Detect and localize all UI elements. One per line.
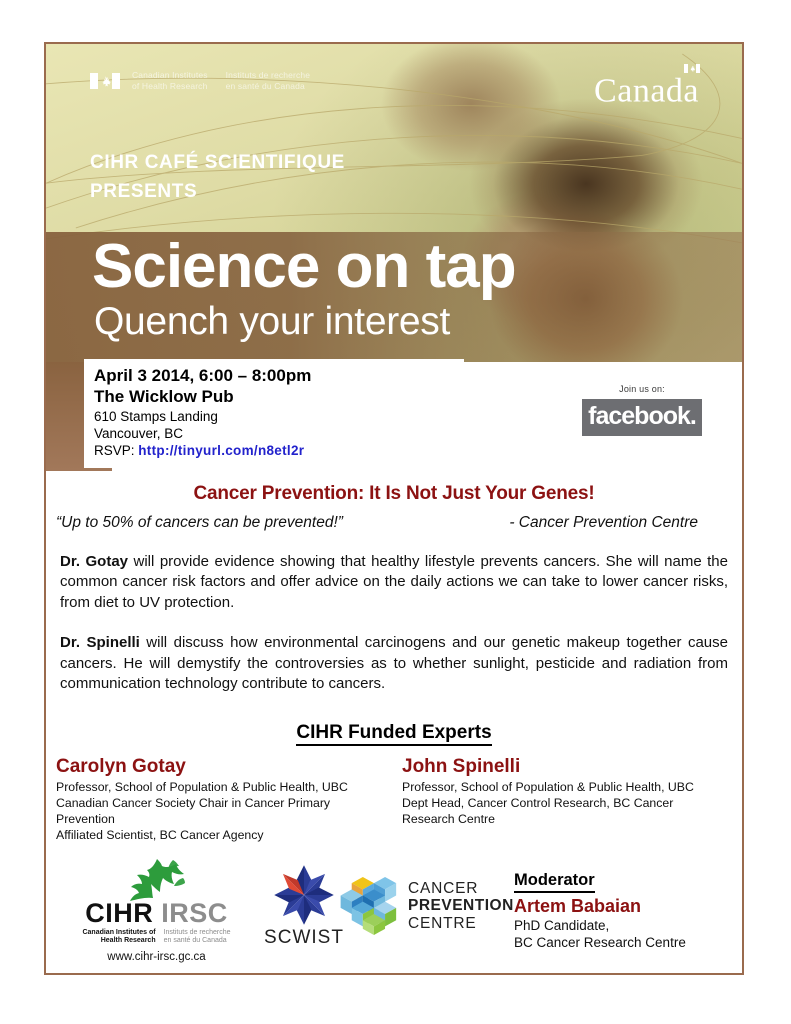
maple-leaf-icon xyxy=(121,858,193,902)
canada-wordmark: Canada xyxy=(594,62,700,108)
event-city: Vancouver, BC xyxy=(94,425,456,442)
topic-attribution: - Cancer Prevention Centre xyxy=(509,514,698,532)
moderator-line-1: PhD Candidate, xyxy=(514,917,734,934)
cihr-signature-en-line1: Canadian Institutes xyxy=(132,70,208,81)
cihr-logo-sub-en-1: Canadian Institutes of xyxy=(82,929,155,938)
cihr-logo-sub-fr-1: Instituts de recherche xyxy=(164,929,231,938)
expert-spinelli-line-3: Research Centre xyxy=(402,812,724,828)
event-address: 610 Stamps Landing xyxy=(94,408,456,425)
expert-spinelli-line-2: Dept Head, Cancer Control Research, BC C… xyxy=(402,796,724,812)
topic-headline: Cancer Prevention: It Is Not Just Your G… xyxy=(46,483,742,505)
event-details-box: April 3 2014, 6:00 – 8:00pm The Wicklow … xyxy=(84,359,464,468)
poster-body: Cancer Prevention: It Is Not Just Your G… xyxy=(46,471,742,973)
cpc-line-3: CENTRE xyxy=(408,915,514,932)
rsvp-label: RSVP: xyxy=(94,443,138,458)
paragraph-gotay: Dr. Gotay will provide evidence showing … xyxy=(60,552,728,613)
paragraph-spinelli-text: will discuss how environmental carcinoge… xyxy=(60,634,728,692)
moderator-block: Moderator Artem Babaian PhD Candidate, B… xyxy=(514,871,734,951)
expert-gotay-line-2: Canadian Cancer Society Chair in Cancer … xyxy=(56,796,386,812)
footer-logos: CIHR IRSC Canadian Institutes of Health … xyxy=(46,845,742,965)
paragraph-spinelli: Dr. Spinelli will discuss how environmen… xyxy=(60,633,728,694)
poster: Canadian Institutes of Health Research I… xyxy=(44,42,744,975)
cihr-signature-fr-line2: en santé du Canada xyxy=(226,81,311,92)
canada-wordmark-text: Canada xyxy=(594,72,699,109)
cihr-signature-fr-line1: Instituts de recherche xyxy=(226,70,311,81)
experts-section-title: CIHR Funded Experts xyxy=(46,722,742,744)
facebook-join-label: Join us on: xyxy=(582,384,702,394)
topic-quote: “Up to 50% of cancers can be prevented!” xyxy=(56,514,343,532)
cihr-wordmark-row: CIHR IRSC xyxy=(64,900,249,927)
presents-label: PRESENTS xyxy=(90,178,345,207)
cihr-logo-sub-en-2: Health Research xyxy=(82,937,155,946)
quote-row: “Up to 50% of cancers can be prevented!”… xyxy=(46,505,742,532)
cihr-logo-sub-fr-2: en santé du Canada xyxy=(164,937,231,946)
cihr-word-en: CIHR xyxy=(85,898,153,928)
cihr-word-fr: IRSC xyxy=(161,898,228,928)
cpc-wordmark: CANCER PREVENTION CENTRE xyxy=(408,880,514,932)
experts-row: Carolyn Gotay Professor, School of Popul… xyxy=(46,756,742,844)
expert-gotay-line-3: Prevention xyxy=(56,812,386,828)
cihr-signature-en-line2: of Health Research xyxy=(132,81,208,92)
expert-gotay-line-4: Affiliated Scientist, BC Cancer Agency xyxy=(56,828,386,844)
event-datetime: April 3 2014, 6:00 – 8:00pm xyxy=(94,365,456,386)
scwist-star-icon xyxy=(273,864,335,926)
expert-gotay-name: Carolyn Gotay xyxy=(56,756,386,778)
event-venue: The Wicklow Pub xyxy=(94,386,456,407)
paragraph-spinelli-lead: Dr. Spinelli xyxy=(60,634,140,651)
experts-section-title-text: CIHR Funded Experts xyxy=(296,722,491,746)
rsvp-row: RSVP: http://tinyurl.com/n8etl2r xyxy=(94,442,456,460)
cancer-prevention-centre-logo: CANCER PREVENTION CENTRE xyxy=(338,877,514,935)
moderator-title: Moderator xyxy=(514,871,595,893)
paragraph-gotay-lead: Dr. Gotay xyxy=(60,553,128,570)
cafe-scientifique-label: CIHR CAFÉ SCIENTIFIQUE xyxy=(90,149,345,178)
cihr-logo-subtext: Canadian Institutes of Health Research I… xyxy=(64,929,249,946)
expert-spinelli-name: John Spinelli xyxy=(402,756,724,778)
rsvp-link[interactable]: http://tinyurl.com/n8etl2r xyxy=(138,443,304,458)
moderator-name: Artem Babaian xyxy=(514,895,734,918)
cpc-cube-icon xyxy=(338,877,400,935)
moderator-line-2: BC Cancer Research Centre xyxy=(514,934,734,951)
paragraph-gotay-text: will provide evidence showing that healt… xyxy=(60,553,728,611)
cihr-website-url[interactable]: www.cihr-irsc.gc.ca xyxy=(64,951,249,963)
expert-spinelli: John Spinelli Professor, School of Popul… xyxy=(394,756,732,844)
expert-gotay-line-1: Professor, School of Population & Public… xyxy=(56,780,386,796)
expert-spinelli-line-1: Professor, School of Population & Public… xyxy=(402,780,724,796)
poster-title: Science on tap xyxy=(92,236,516,298)
cpc-line-2: PREVENTION xyxy=(408,897,514,914)
cihr-logo: CIHR IRSC Canadian Institutes of Health … xyxy=(64,858,249,963)
facebook-block[interactable]: Join us on: facebook. xyxy=(582,384,702,436)
cihr-signature: Canadian Institutes of Health Research I… xyxy=(90,70,310,92)
canada-flag-icon xyxy=(90,73,120,89)
presents-block: CIHR CAFÉ SCIENTIFIQUE PRESENTS xyxy=(90,149,345,206)
canada-wordmark-flag-icon xyxy=(684,46,700,55)
expert-gotay: Carolyn Gotay Professor, School of Popul… xyxy=(56,756,394,844)
poster-subtitle: Quench your interest xyxy=(94,302,450,341)
facebook-badge[interactable]: facebook. xyxy=(582,399,702,436)
cpc-line-1: CANCER xyxy=(408,880,514,897)
